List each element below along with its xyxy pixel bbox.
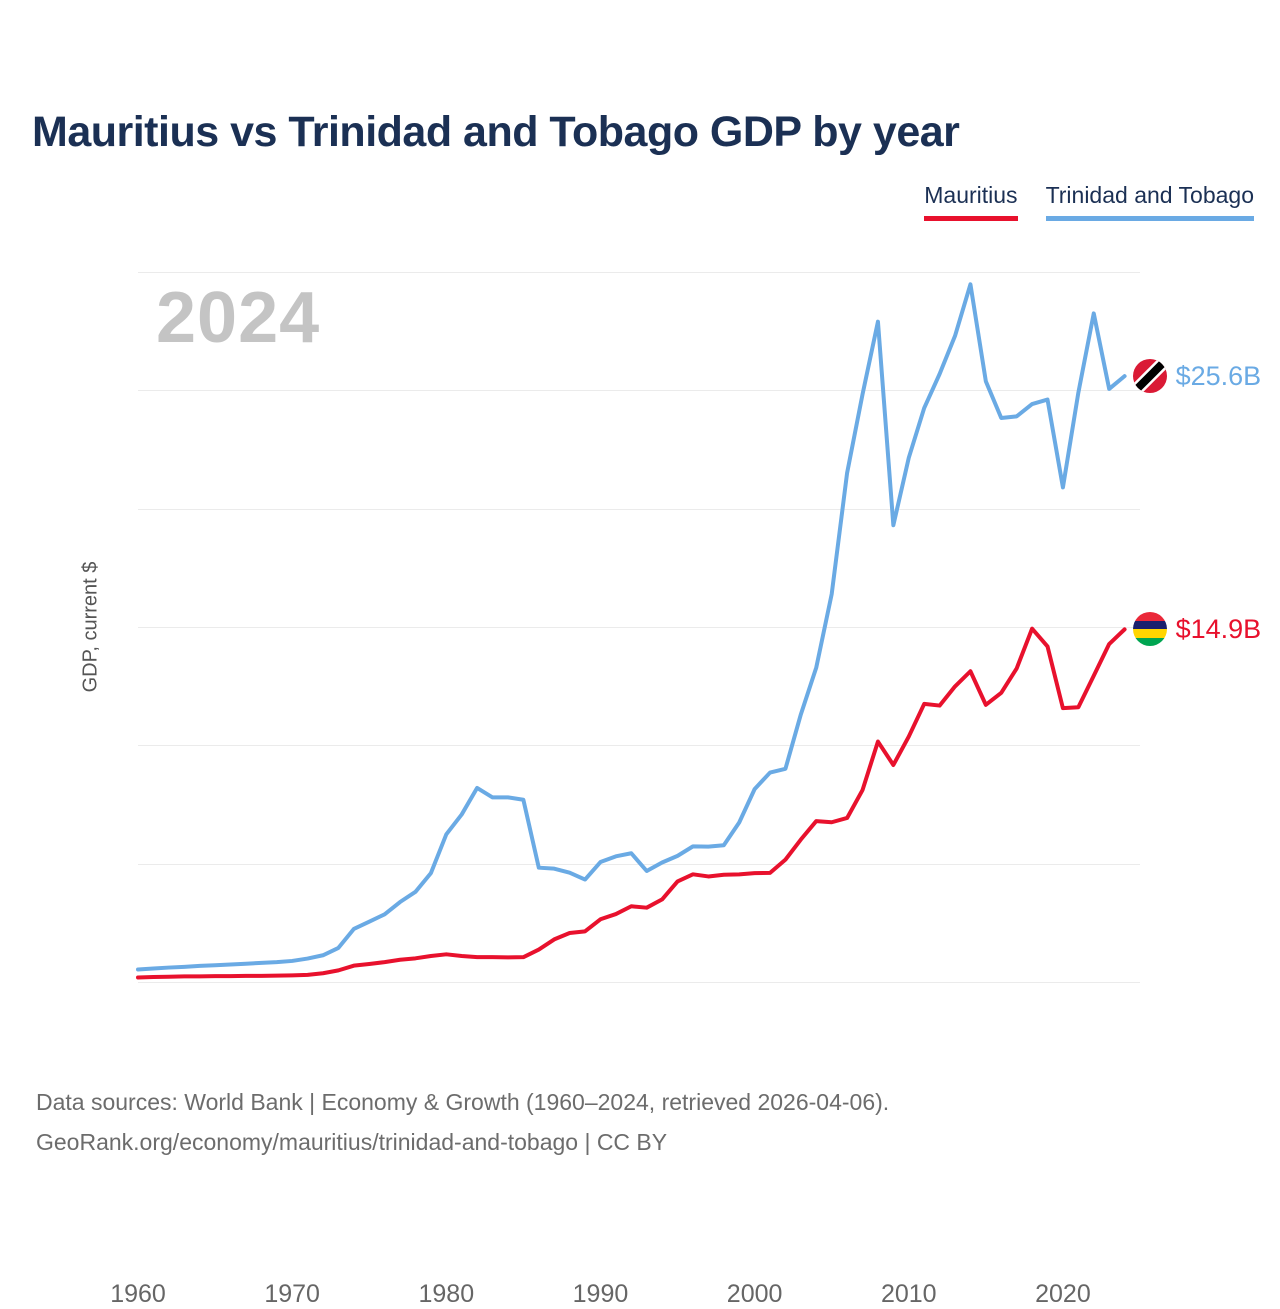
x-axis-tick-label: 2020 (1035, 1280, 1091, 1309)
legend-item-mauritius[interactable]: Mauritius (924, 182, 1017, 221)
footer-data-sources: Data sources: World Bank | Economy & Gro… (36, 1082, 889, 1122)
footer: Data sources: World Bank | Economy & Gro… (36, 1082, 889, 1163)
chart-root: Mauritius vs Trinidad and Tobago GDP by … (0, 0, 1280, 1280)
endpoint-trinidad-and-tobago: $25.6B (1133, 359, 1262, 393)
gridline (138, 982, 1140, 983)
endpoint-mauritius: $14.9B (1133, 612, 1262, 646)
x-axis-tick-label: 1970 (264, 1280, 320, 1309)
x-axis-tick-label: 2010 (881, 1280, 937, 1309)
plot-area: GDP, current $ 2024 $0$5B$10B$15B$20B$25… (138, 272, 1140, 982)
x-axis-tick-label: 1980 (418, 1280, 474, 1309)
footer-attribution: GeoRank.org/economy/mauritius/trinidad-a… (36, 1122, 889, 1162)
endpoint-value-label: $25.6B (1176, 361, 1262, 392)
x-axis-tick-label: 1960 (110, 1280, 166, 1309)
chart-legend: Mauritius Trinidad and Tobago (924, 182, 1254, 221)
y-axis-title: GDP, current $ (80, 562, 103, 693)
mauritius-flag (1133, 612, 1167, 646)
series-line-trinidad-and-tobago (138, 284, 1125, 969)
trinidad-and-tobago-flag (1133, 359, 1167, 393)
series-line-mauritius (138, 629, 1125, 978)
endpoint-value-label: $14.9B (1176, 614, 1262, 645)
legend-item-trinidad-and-tobago[interactable]: Trinidad and Tobago (1046, 182, 1254, 221)
x-axis-tick-label: 1990 (573, 1280, 629, 1309)
x-axis-tick-label: 2000 (727, 1280, 783, 1309)
page-title: Mauritius vs Trinidad and Tobago GDP by … (32, 108, 959, 157)
series-lines (138, 272, 1140, 982)
